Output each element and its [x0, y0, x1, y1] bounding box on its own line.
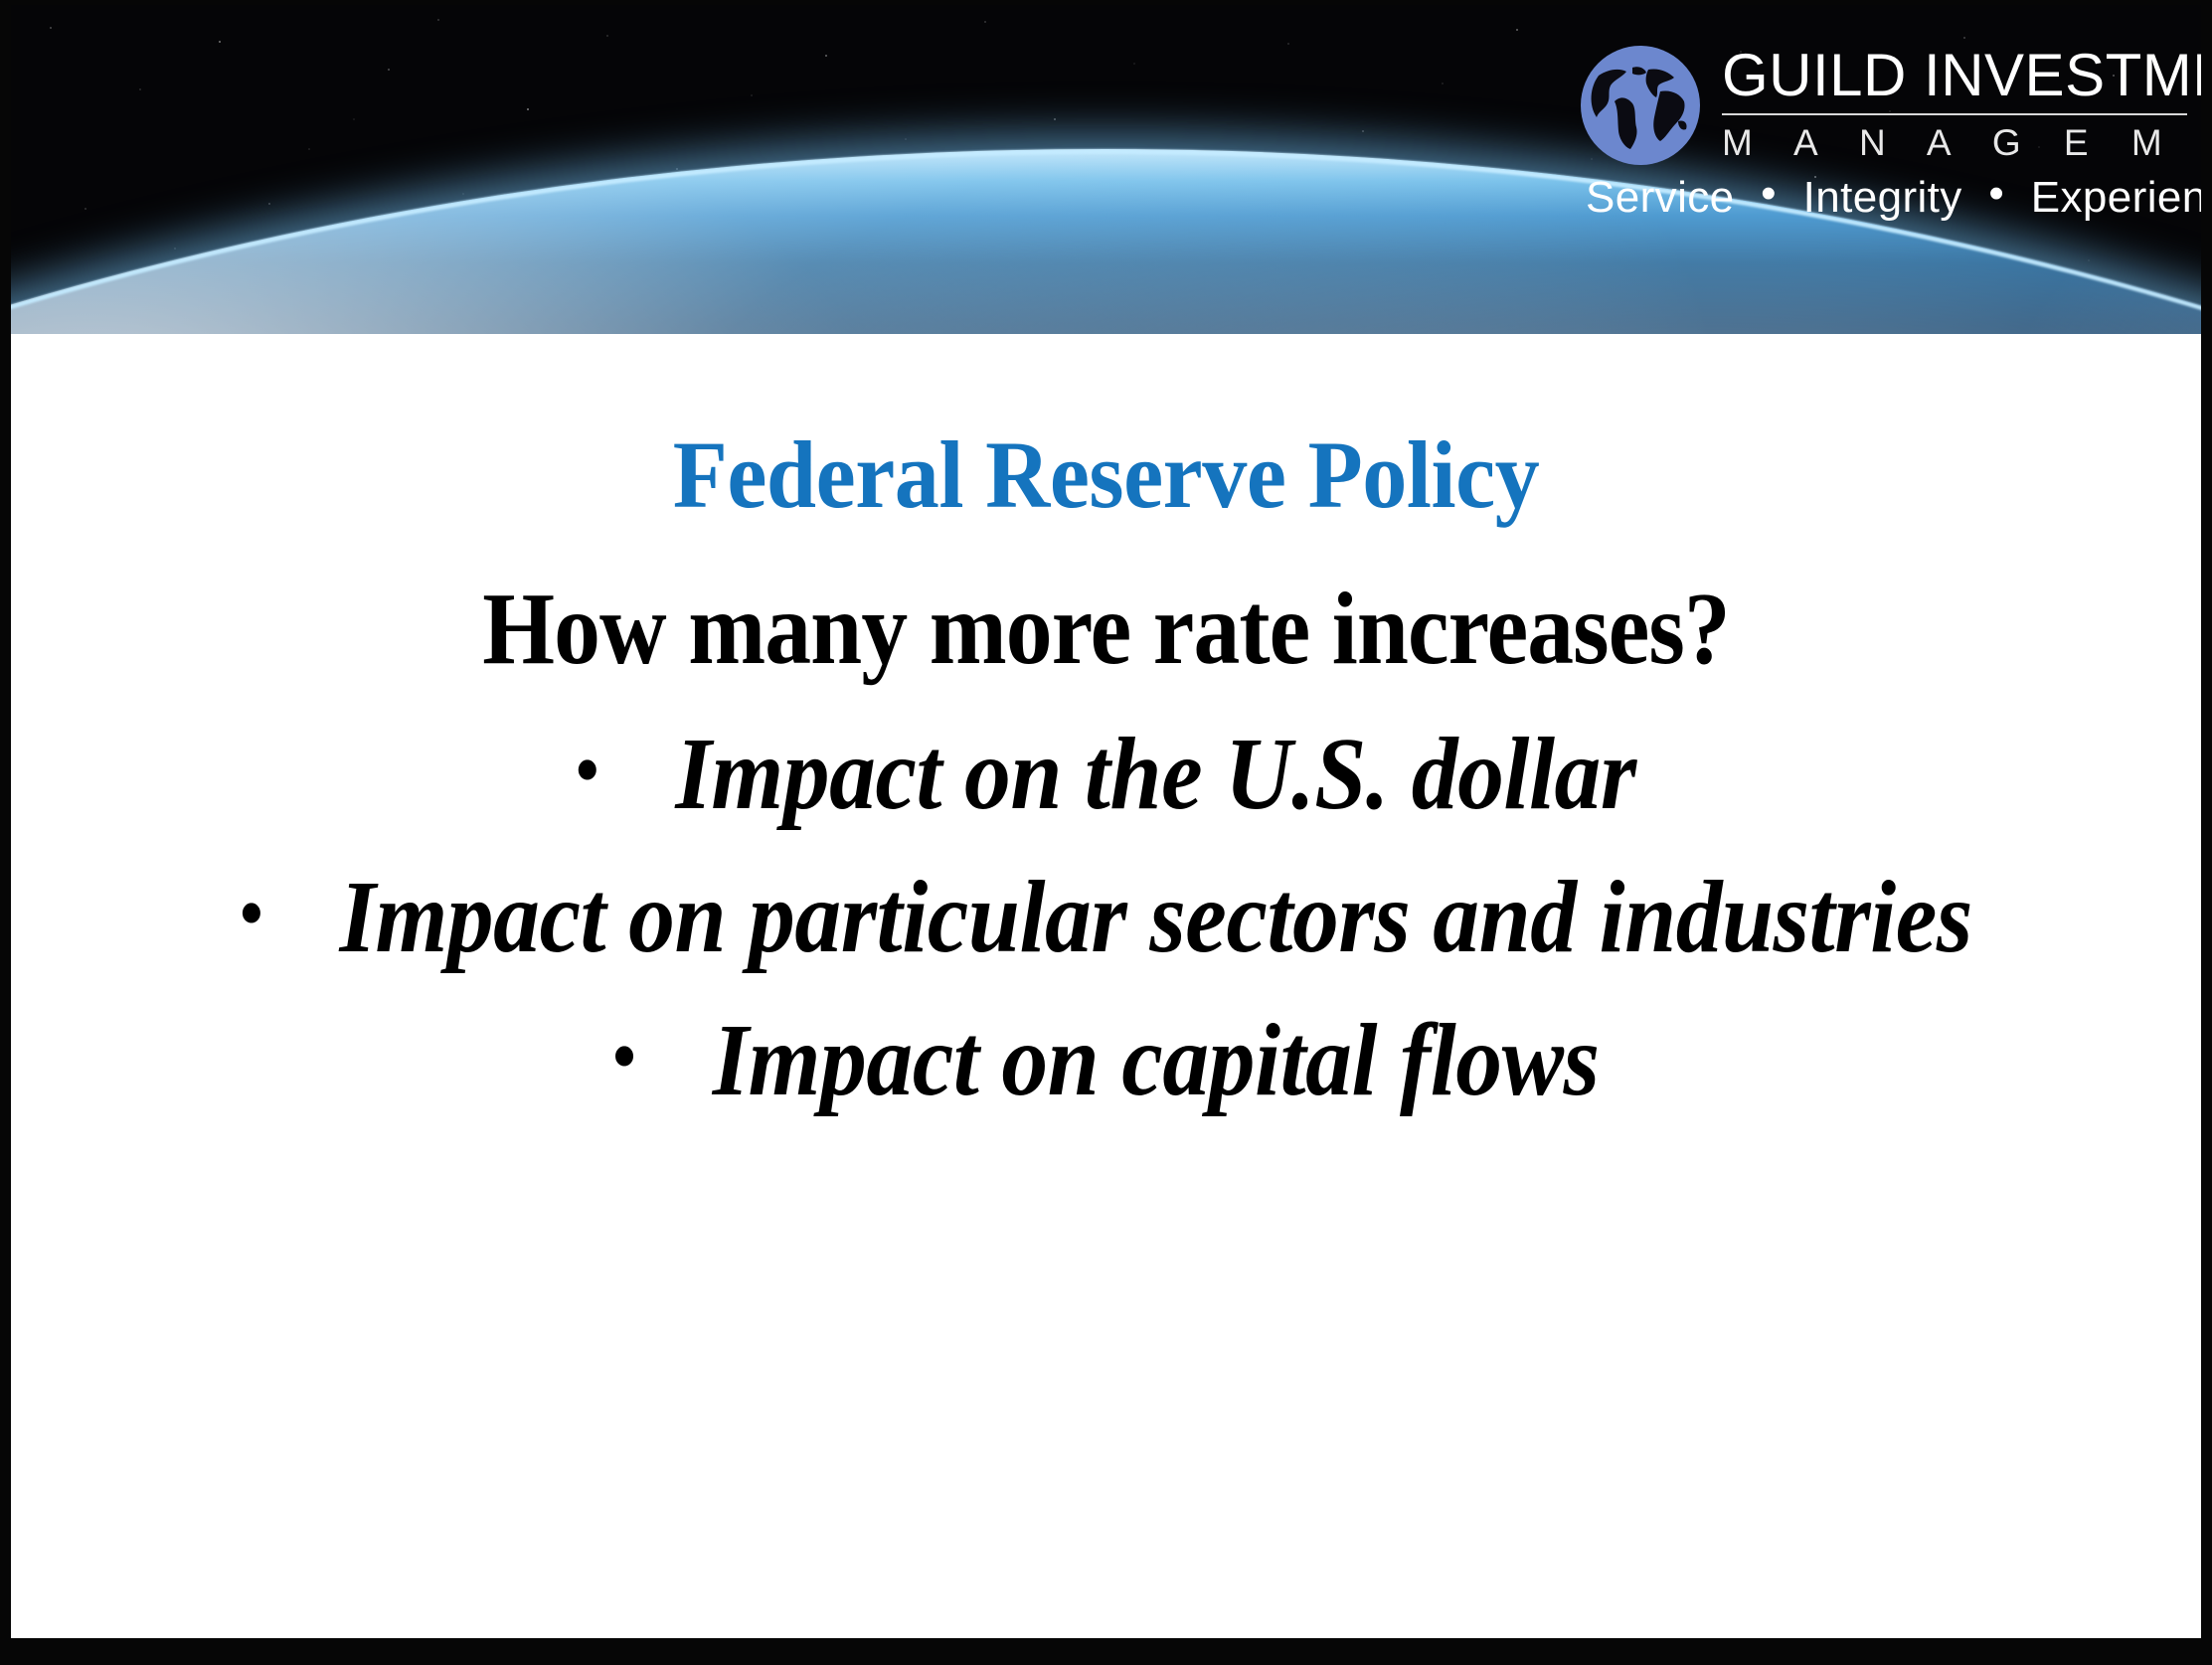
brand-subtitle: M A N A G E M E N T	[1722, 122, 2189, 165]
bullet-dot-icon: •	[240, 873, 262, 954]
list-item-label: Impact on particular sectors and industr…	[339, 860, 1971, 974]
slide-border-left	[0, 0, 11, 1665]
slide-page: GUILD INVESTMENT M A N A G E M E N T Ser…	[11, 0, 2201, 1638]
headline-question: How many more rate increases?	[120, 578, 2092, 681]
slide-border-top	[0, 0, 2212, 5]
list-item: •Impact on capital flows	[120, 1009, 2092, 1112]
list-item: •Impact on the U.S. dollar	[120, 723, 2092, 826]
list-item: •Impact on particular sectors and indust…	[120, 866, 2092, 969]
bullet-dot-icon: •	[576, 730, 598, 811]
brand-tagline: Service • Integrity • Experience	[1586, 173, 2201, 223]
tagline-word-experience: Experience	[2031, 173, 2201, 222]
list-item-label: Impact on capital flows	[713, 1003, 1600, 1117]
brand-wordmark: GUILD INVESTMENT M A N A G E M E N T	[1722, 46, 2189, 165]
bullet-list: How many more rate increases? •Impact on…	[11, 578, 2201, 1152]
globe-icon	[1575, 40, 1706, 171]
tagline-separator-2: •	[1974, 169, 2018, 219]
brand-divider-rule	[1722, 113, 2187, 115]
bullet-dot-icon: •	[612, 1016, 635, 1097]
header-banner: GUILD INVESTMENT M A N A G E M E N T Ser…	[11, 0, 2201, 334]
slide-body: Federal Reserve Policy How many more rat…	[11, 334, 2201, 1638]
brand-name: GUILD INVESTMENT	[1722, 46, 2189, 105]
tagline-word-service: Service	[1586, 173, 1735, 222]
list-item-label: Impact on the U.S. dollar	[675, 717, 1635, 831]
page-title: Federal Reserve Policy	[77, 425, 2135, 525]
slide-border-bottom	[0, 1638, 2212, 1665]
tagline-separator-1: •	[1747, 169, 1790, 219]
tagline-word-integrity: Integrity	[1803, 173, 1962, 222]
presentation-slide: GUILD INVESTMENT M A N A G E M E N T Ser…	[0, 0, 2212, 1665]
slide-border-right	[2201, 0, 2212, 1665]
